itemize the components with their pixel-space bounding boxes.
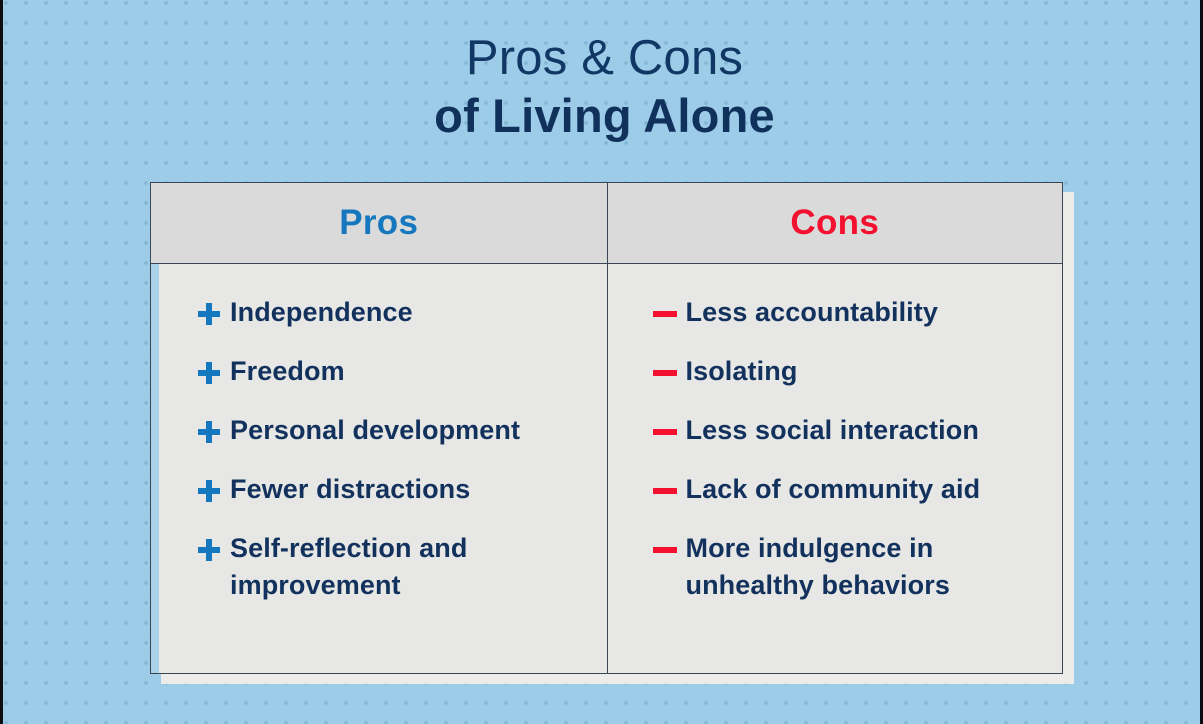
list-item-label: Personal development bbox=[230, 412, 520, 449]
table-header-row: Pros Cons bbox=[150, 182, 1063, 264]
list-item: Isolating bbox=[652, 353, 1045, 393]
plus-icon bbox=[196, 471, 230, 511]
list-item: Freedom bbox=[196, 353, 589, 393]
list-item: Self-reflection and improvement bbox=[196, 530, 589, 604]
list-item: Less social interaction bbox=[652, 412, 1045, 452]
title-line-primary: Pros & Cons bbox=[3, 34, 1203, 83]
list-item-label: Less accountability bbox=[686, 294, 938, 331]
list-item-label: Freedom bbox=[230, 353, 345, 390]
plus-icon bbox=[196, 412, 230, 452]
list-item-label: Self-reflection and improvement bbox=[230, 530, 589, 604]
list-item: Independence bbox=[196, 294, 589, 334]
table-body: Independence Freedom bbox=[150, 264, 1063, 674]
list-item-label: Fewer distractions bbox=[230, 471, 470, 508]
list-item-label: Isolating bbox=[686, 353, 798, 390]
minus-icon bbox=[652, 471, 686, 511]
header-label-cons: Cons bbox=[790, 203, 879, 243]
list-item: More indulgence in unhealthy behaviors bbox=[652, 530, 1045, 604]
minus-icon bbox=[652, 412, 686, 452]
table-column-pros: Independence Freedom bbox=[151, 264, 607, 673]
plus-icon bbox=[196, 294, 230, 334]
pros-list: Independence Freedom bbox=[151, 294, 607, 604]
list-item: Personal development bbox=[196, 412, 589, 452]
list-item: Less accountability bbox=[652, 294, 1045, 334]
plus-icon bbox=[196, 530, 230, 570]
list-item-label: Less social interaction bbox=[686, 412, 979, 449]
table-header-cell-cons: Cons bbox=[607, 183, 1063, 263]
list-item-label: More indulgence in unhealthy behaviors bbox=[686, 530, 1045, 604]
pros-cons-table: Pros Cons Independence bbox=[150, 182, 1063, 674]
title-line-secondary: of Living Alone bbox=[3, 92, 1203, 139]
list-item: Fewer distractions bbox=[196, 471, 589, 511]
slide-canvas: Pros & Cons of Living Alone Pros Cons bbox=[0, 0, 1203, 724]
minus-icon bbox=[652, 294, 686, 334]
table-header-cell-pros: Pros bbox=[151, 183, 607, 263]
list-item-label: Lack of community aid bbox=[686, 471, 981, 508]
list-item: Lack of community aid bbox=[652, 471, 1045, 511]
minus-icon bbox=[652, 353, 686, 393]
list-item-label: Independence bbox=[230, 294, 413, 331]
cons-list: Less accountability Isolating bbox=[608, 294, 1063, 604]
page-title: Pros & Cons of Living Alone bbox=[3, 34, 1203, 139]
header-label-pros: Pros bbox=[339, 203, 418, 243]
table-column-cons: Less accountability Isolating bbox=[607, 264, 1063, 673]
plus-icon bbox=[196, 353, 230, 393]
minus-icon bbox=[652, 530, 686, 570]
